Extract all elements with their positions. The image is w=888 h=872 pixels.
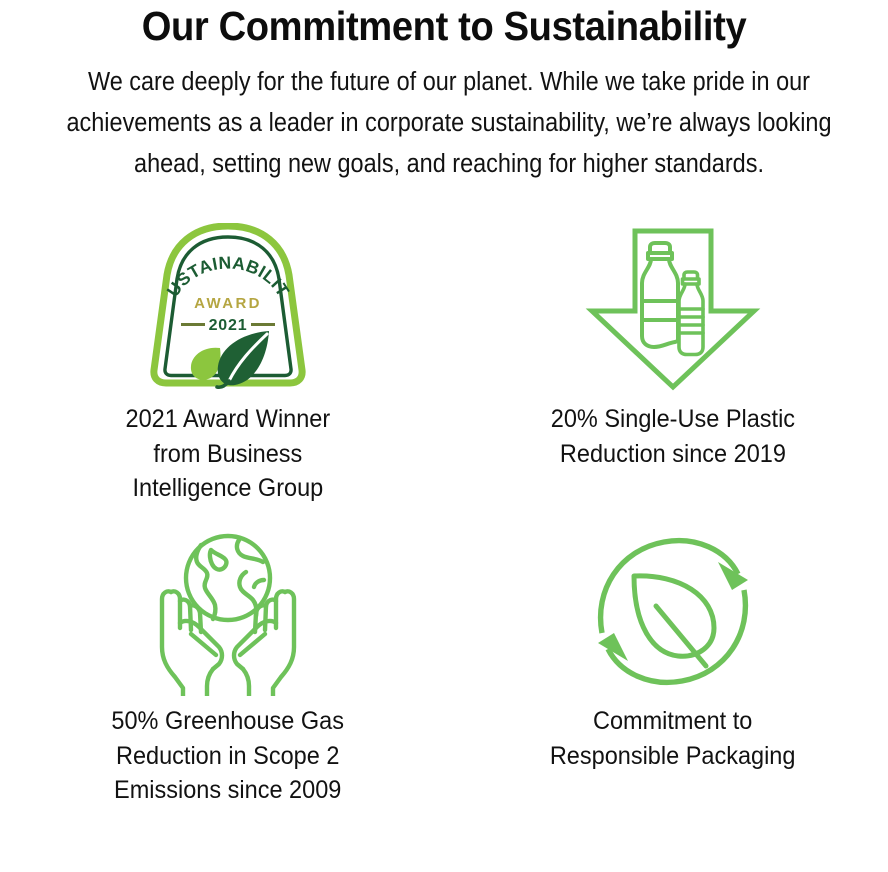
recycle-arc-bottom <box>608 590 745 682</box>
page-subtitle-line-1: We care deeply for the future of our pla… <box>41 62 856 103</box>
pillar-caption-line-1: 50% Greenhouse Gas <box>112 704 345 739</box>
pillar-single-use-plastic: 20% Single-Use Plastic Reduction since 2… <box>444 221 888 526</box>
sustainability-pillars-grid: SUSTAINABILITY AWARD 2021 <box>0 221 888 831</box>
pillar-icon-wrap <box>580 526 766 698</box>
pillar-award-winner: SUSTAINABILITY AWARD 2021 <box>0 221 444 526</box>
hands-holding-globe-icon <box>133 528 323 696</box>
pillar-caption: 2021 Award Winner from Business Intellig… <box>126 402 331 506</box>
right-hand-wrist <box>243 669 249 696</box>
left-hand-wrist <box>207 669 213 696</box>
globe-continent-top-left <box>210 550 227 570</box>
badge-year-text: 2021 <box>209 317 248 334</box>
pillar-caption-line-1: 2021 Award Winner <box>126 402 331 437</box>
pillar-caption-line-1: 20% Single-Use Plastic <box>551 402 795 437</box>
pillar-caption-line-2: Responsible Packaging <box>550 739 796 774</box>
pillar-caption-line-1: Commitment to <box>550 704 796 739</box>
pillar-caption-line-3: Intelligence Group <box>126 471 331 506</box>
pillar-greenhouse-gas: 50% Greenhouse Gas Reduction in Scope 2 … <box>0 526 444 831</box>
pillar-caption: 50% Greenhouse Gas Reduction in Scope 2 … <box>112 704 345 808</box>
pillar-icon-wrap <box>578 221 768 396</box>
page-title: Our Commitment to Sustainability <box>37 0 852 50</box>
page-subtitle-line-2: achievements as a leader in corporate su… <box>41 103 856 144</box>
pillar-caption: Commitment to Responsible Packaging <box>550 704 796 773</box>
pillar-caption-line-2: Reduction since 2019 <box>551 437 795 472</box>
pillar-caption-line-2: Reduction in Scope 2 <box>112 739 345 774</box>
badge-arc-text: SUSTAINABILITY <box>138 223 293 300</box>
plastic-bottle-down-arrow-icon <box>578 223 768 395</box>
page-subtitle: We care deeply for the future of our pla… <box>41 62 856 185</box>
pillar-caption-line-3: Emissions since 2009 <box>112 773 345 808</box>
recycling-leaf-icon <box>580 528 766 696</box>
pillar-responsible-packaging: Commitment to Responsible Packaging <box>444 526 888 831</box>
pillar-caption-line-2: from Business <box>126 437 331 472</box>
leaf-outline <box>634 576 714 656</box>
pillar-caption: 20% Single-Use Plastic Reduction since 2… <box>551 402 795 471</box>
globe-continent-edge <box>254 580 264 587</box>
badge-award-text: AWARD <box>194 295 262 312</box>
page-subtitle-line-3: ahead, setting new goals, and reaching f… <box>41 144 856 185</box>
pillar-icon-wrap: SUSTAINABILITY AWARD 2021 <box>138 221 318 396</box>
sustainability-commitment-page: Our Commitment to Sustainability We care… <box>0 0 888 872</box>
pillar-icon-wrap <box>133 526 323 698</box>
large-bottle-icon <box>642 243 678 347</box>
small-bottle-icon <box>679 272 703 355</box>
sustainability-award-badge-icon: SUSTAINABILITY AWARD 2021 <box>138 223 318 395</box>
page-header: Our Commitment to Sustainability We care… <box>0 0 888 185</box>
